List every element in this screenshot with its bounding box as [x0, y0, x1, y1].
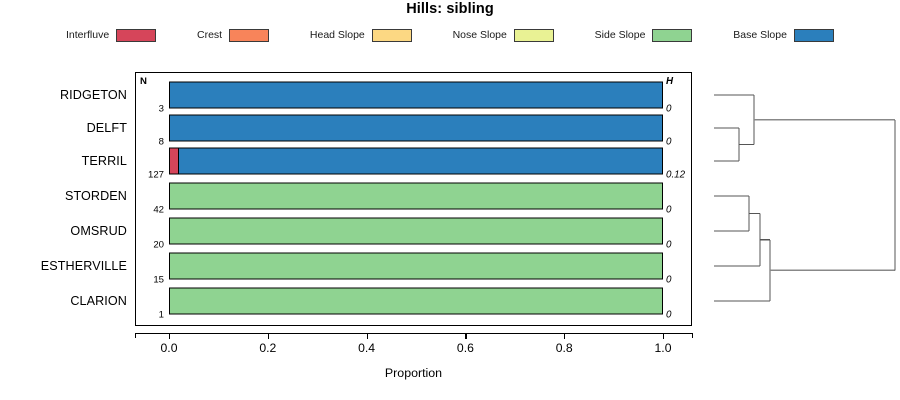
category-label: DELFT — [87, 121, 127, 135]
x-axis-title: Proportion — [135, 366, 692, 380]
n-value: 20 — [138, 240, 164, 251]
stacked-bar[interactable] — [169, 148, 663, 175]
legend-item-label: Base Slope — [733, 29, 787, 41]
h-column-header: H — [666, 76, 673, 87]
h-value: 0.12 — [666, 170, 685, 181]
axis-left-cap — [135, 333, 136, 338]
stacked-bar[interactable] — [169, 183, 663, 210]
category-label: STORDEN — [65, 189, 127, 203]
category-label: TERRIL — [82, 154, 127, 168]
legend-color-swatch — [229, 29, 269, 42]
axis-tick-label: 1.0 — [655, 341, 672, 355]
n-value: 8 — [138, 137, 164, 148]
dendrogram-svg — [692, 72, 900, 326]
category-axis-labels: RIDGETONDELFTTERRILSTORDENOMSRUDESTHERVI… — [0, 72, 131, 326]
n-column-header: N — [140, 76, 147, 87]
stacked-bar[interactable] — [169, 82, 663, 109]
axis-tick-label: 0.0 — [161, 341, 178, 355]
axis-tick-label: 0.4 — [358, 341, 375, 355]
legend-color-swatch — [116, 29, 156, 42]
stacked-bar[interactable] — [169, 115, 663, 142]
h-value: 0 — [666, 275, 671, 286]
legend-item-label: Interfluve — [66, 29, 109, 41]
axis-tick-mark — [268, 333, 269, 339]
legend-color-swatch — [372, 29, 412, 42]
n-value: 15 — [138, 275, 164, 286]
chart-root: Hills: sibling InterfluveCrestHead Slope… — [0, 0, 900, 400]
legend-item-label: Side Slope — [595, 29, 646, 41]
h-value: 0 — [666, 104, 671, 115]
category-label: OMSRUD — [70, 224, 127, 238]
bar-segment[interactable] — [170, 83, 662, 108]
legend-color-swatch — [794, 29, 834, 42]
legend-item[interactable]: Crest — [197, 29, 269, 42]
x-axis-line — [135, 333, 692, 334]
bar-segment[interactable] — [170, 149, 178, 174]
h-value: 0 — [666, 240, 671, 251]
bar-segment[interactable] — [178, 149, 662, 174]
h-value: 0 — [666, 137, 671, 148]
stacked-bar[interactable] — [169, 253, 663, 280]
category-label: RIDGETON — [60, 88, 127, 102]
h-value: 0 — [666, 205, 671, 216]
axis-tick-mark — [564, 333, 565, 339]
legend-color-swatch — [514, 29, 554, 42]
legend-item-label: Head Slope — [310, 29, 365, 41]
legend-item[interactable]: Interfluve — [66, 29, 156, 42]
axis-tick-label: 0.8 — [556, 341, 573, 355]
n-value: 3 — [138, 104, 164, 115]
stacked-bar[interactable] — [169, 218, 663, 245]
bar-segment[interactable] — [170, 184, 662, 209]
axis-tick-mark — [663, 333, 664, 339]
legend-item[interactable]: Base Slope — [733, 29, 834, 42]
dendrogram — [692, 72, 900, 326]
axis-right-cap — [692, 333, 693, 338]
h-value: 0 — [666, 310, 671, 321]
bar-segment[interactable] — [170, 289, 662, 314]
bar-segment[interactable] — [170, 116, 662, 141]
legend-color-swatch — [652, 29, 692, 42]
n-value: 42 — [138, 205, 164, 216]
bar-segment[interactable] — [170, 254, 662, 279]
axis-tick-mark — [367, 333, 368, 339]
axis-tick-label: 0.6 — [457, 341, 474, 355]
n-value: 127 — [138, 170, 164, 181]
axis-tick-mark — [465, 333, 466, 339]
legend-item[interactable]: Head Slope — [310, 29, 412, 42]
stacked-bar[interactable] — [169, 288, 663, 315]
category-label: CLARION — [70, 294, 127, 308]
n-value: 1 — [138, 310, 164, 321]
legend-item-label: Nose Slope — [453, 29, 507, 41]
legend-item[interactable]: Side Slope — [595, 29, 693, 42]
legend: InterfluveCrestHead SlopeNose SlopeSide … — [0, 26, 900, 44]
axis-tick-mark — [169, 333, 170, 339]
category-label: ESTHERVILLE — [41, 259, 127, 273]
axis-tick-label: 0.2 — [259, 341, 276, 355]
legend-item[interactable]: Nose Slope — [453, 29, 554, 42]
bar-segment[interactable] — [170, 219, 662, 244]
legend-item-label: Crest — [197, 29, 222, 41]
chart-title: Hills: sibling — [0, 1, 900, 17]
